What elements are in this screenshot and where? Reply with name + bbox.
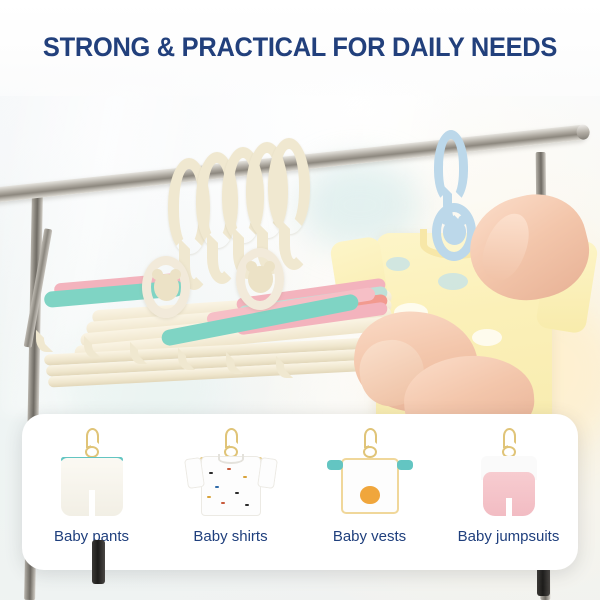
category-item-baby-shirts[interactable]: Baby shirts	[161, 414, 300, 570]
category-item-baby-jumpsuits[interactable]: Baby jumpsuits	[439, 414, 578, 570]
hanger-strap-notch	[130, 342, 147, 364]
print-speck	[243, 476, 247, 478]
baby-shirt-icon	[179, 426, 283, 522]
polo-collar	[218, 454, 244, 464]
category-item-baby-vests[interactable]: Baby vests	[300, 414, 439, 570]
hanger-strap-notch	[276, 356, 293, 378]
polo-sleeve-right	[256, 457, 277, 489]
hanger-strap-notch	[226, 352, 243, 374]
pants-shape	[61, 458, 123, 516]
vest-cuff-left	[327, 460, 343, 470]
print-speck	[235, 492, 239, 494]
baby-jumpsuit-icon	[457, 426, 561, 522]
product-banner: Baby pants	[0, 0, 600, 600]
tiger-print-icon	[360, 486, 380, 504]
page-title: STRONG & PRACTICAL FOR DAILY NEEDS	[12, 32, 588, 63]
category-label: Baby jumpsuits	[458, 528, 560, 545]
hanger-strap-notch	[84, 336, 101, 358]
print-speck	[221, 502, 225, 504]
hanger-strap-notch	[36, 330, 53, 352]
print-speck	[227, 468, 231, 470]
category-label: Baby vests	[333, 528, 406, 545]
print-speck	[207, 496, 211, 498]
bear-face-shape	[154, 274, 179, 301]
bear-medallion-icon	[142, 256, 190, 318]
print-speck	[215, 486, 219, 488]
print-speck	[209, 472, 213, 474]
print-speck	[245, 504, 249, 506]
vest-shape	[341, 458, 399, 514]
category-card: Baby pants	[22, 414, 578, 570]
rack-foot	[92, 540, 105, 584]
bear-medallion-icon	[236, 248, 284, 310]
hanger-strap-notch	[178, 348, 195, 370]
category-label: Baby shirts	[193, 528, 267, 545]
baby-pants-icon	[40, 426, 144, 522]
hanger-hook-tail	[279, 218, 309, 270]
polo-shape	[201, 456, 261, 516]
polo-sleeve-left	[183, 457, 204, 489]
bear-face-shape	[248, 266, 273, 293]
jumpsuit-bottom	[483, 472, 535, 516]
mini-bear-medallion-icon	[363, 446, 377, 458]
baby-vest-icon	[318, 426, 422, 522]
vest-cuff-right	[397, 460, 413, 470]
